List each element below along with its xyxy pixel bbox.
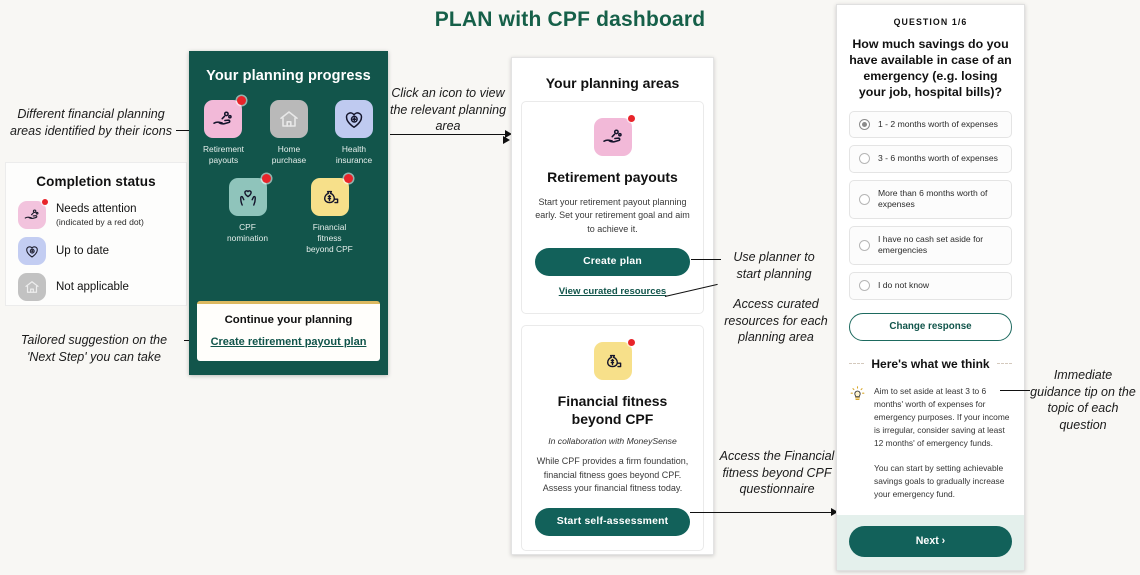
view-curated-resources-link[interactable]: View curated resources	[559, 286, 667, 297]
connector-guidance-tip	[1000, 390, 1030, 391]
questionnaire-footer: Next ›	[837, 515, 1024, 570]
arrowhead-into-areas-panel	[503, 136, 510, 144]
planning-icon-label: CPF nomination	[223, 222, 273, 244]
option-label: I have no cash set aside for emergencies	[878, 234, 1002, 257]
home-purchase-icon[interactable]	[270, 100, 308, 138]
radio-icon[interactable]	[859, 194, 870, 205]
questionnaire-body: QUESTION 1/6 How much savings do you hav…	[837, 5, 1024, 501]
area-card-description: While CPF provides a firm foundation, fi…	[535, 455, 690, 496]
question-text: How much savings do you have available i…	[849, 36, 1012, 101]
legend-title: Completion status	[6, 174, 186, 189]
insight-tip: Aim to set aside at least 3 to 6 months'…	[849, 385, 1012, 501]
annotation-use-planner: Use planner to start planning	[720, 249, 828, 282]
status-dot	[237, 96, 246, 105]
insight-paragraph-1: Aim to set aside at least 3 to 6 months'…	[874, 385, 1012, 450]
legend-item-text: Not applicable	[56, 280, 129, 294]
annotation-curated-resources: Access curated resources for each planni…	[718, 296, 834, 346]
option-label: More than 6 months worth of expenses	[878, 188, 1002, 211]
insight-paragraph-2: You can start by setting achievable savi…	[874, 462, 1012, 501]
option-no-cash-set-aside[interactable]: I have no cash set aside for emergencies	[849, 226, 1012, 265]
legend-label: Needs attention	[56, 203, 137, 215]
area-card-subtitle: In collaboration with MoneySense	[535, 436, 690, 446]
divider-left	[849, 363, 864, 364]
option-do-not-know[interactable]: I do not know	[849, 272, 1012, 300]
retirement-payouts-icon	[594, 118, 632, 156]
retirement-payouts-icon[interactable]	[204, 100, 242, 138]
area-card-financial-fitness: Financial fitness beyond CPF In collabor…	[521, 325, 704, 551]
connector-use-planner	[691, 259, 721, 260]
planning-icon-label: Health insurance	[334, 144, 374, 166]
legend-label: Not applicable	[56, 281, 129, 293]
radio-icon[interactable]	[859, 119, 870, 130]
planning-areas-title: Your planning areas	[521, 75, 704, 91]
planning-progress-panel: Your planning progress Retirement payout…	[189, 51, 388, 375]
health-insurance-icon[interactable]	[335, 100, 373, 138]
status-dot	[628, 115, 635, 122]
status-dot	[42, 199, 48, 205]
planning-icon-health-insurance[interactable]: Health insurance	[334, 100, 374, 166]
area-card-title: Retirement payouts	[535, 169, 690, 187]
financial-fitness-icon	[594, 342, 632, 380]
legend-item-up-to-date: Up to date	[6, 233, 186, 269]
planning-icon-row-2: CPF nomination Financial fitness beyond …	[203, 178, 374, 255]
planning-icon-label: Financial fitness beyond CPF	[305, 222, 355, 255]
next-step-title: Continue your planning	[205, 314, 372, 326]
annotation-next-step: Tailored suggestion on the 'Next Step' y…	[6, 332, 182, 365]
completion-status-legend: Completion status Needs attention (indic…	[6, 163, 186, 305]
status-dot	[344, 174, 353, 183]
connector-access-questionnaire	[690, 512, 834, 513]
option-label: 3 - 6 months worth of expenses	[878, 153, 998, 165]
radio-icon[interactable]	[859, 240, 870, 251]
start-self-assessment-button[interactable]: Start self-assessment	[535, 508, 690, 536]
lightbulb-icon	[849, 385, 866, 501]
option-label: I do not know	[878, 280, 929, 292]
question-number: QUESTION 1/6	[849, 17, 1012, 27]
planning-progress-title: Your planning progress	[189, 68, 388, 84]
annotation-icons-identified: Different financial planning areas ident…	[8, 106, 174, 139]
radio-icon[interactable]	[859, 153, 870, 164]
legend-item-not-applicable: Not applicable	[6, 269, 186, 305]
status-dot	[628, 339, 635, 346]
option-more-than-6-months[interactable]: More than 6 months worth of expenses	[849, 180, 1012, 219]
insight-heading: Here's what we think	[871, 357, 989, 371]
create-plan-button[interactable]: Create plan	[535, 248, 690, 276]
option-1-2-months[interactable]: 1 - 2 months worth of expenses	[849, 111, 1012, 139]
legend-label: Up to date	[56, 245, 109, 257]
radio-icon[interactable]	[859, 280, 870, 291]
annotation-click-icon: Click an icon to view the relevant plann…	[388, 85, 508, 135]
health-insurance-icon	[18, 237, 46, 265]
legend-item-text: Needs attention (indicated by a red dot)	[56, 202, 144, 227]
legend-sublabel: (indicated by a red dot)	[56, 217, 144, 228]
planning-icon-row-1: Retirement payouts Home purchase	[203, 100, 374, 166]
legend-item-needs-attention: Needs attention (indicated by a red dot)	[6, 197, 186, 233]
next-button[interactable]: Next ›	[849, 526, 1012, 557]
planning-icon-grid: Retirement payouts Home purchase	[189, 100, 388, 255]
questionnaire-panel: QUESTION 1/6 How much savings do you hav…	[836, 4, 1025, 571]
next-step-card: Continue your planning Create retirement…	[197, 301, 380, 361]
options-list: 1 - 2 months worth of expenses 3 - 6 mon…	[849, 111, 1012, 300]
area-card-title: Financial fitness beyond CPF	[535, 393, 690, 428]
annotation-guidance-tip: Immediate guidance tip on the topic of e…	[1030, 367, 1136, 433]
insight-heading-row: Here's what we think	[849, 357, 1012, 371]
planning-icon-retirement-payouts[interactable]: Retirement payouts	[203, 100, 244, 166]
planning-icon-home-purchase[interactable]: Home purchase	[269, 100, 309, 166]
option-3-6-months[interactable]: 3 - 6 months worth of expenses	[849, 145, 1012, 173]
home-purchase-icon	[18, 273, 46, 301]
dashboard-annotated-diagram: PLAN with CPF dashboard Different financ…	[0, 0, 1140, 575]
cpf-nomination-icon[interactable]	[229, 178, 267, 216]
planning-icon-cpf-nomination[interactable]: CPF nomination	[223, 178, 273, 255]
financial-fitness-icon[interactable]	[311, 178, 349, 216]
divider-right	[997, 363, 1012, 364]
status-dot	[262, 174, 271, 183]
connector-click-icon	[390, 134, 507, 135]
planning-areas-panel: Your planning areas Retirement payouts S…	[511, 57, 714, 555]
planning-icon-label: Home purchase	[269, 144, 309, 166]
option-label: 1 - 2 months worth of expenses	[878, 119, 998, 131]
planning-icon-financial-fitness[interactable]: Financial fitness beyond CPF	[305, 178, 355, 255]
create-retirement-payout-plan-link[interactable]: Create retirement payout plan	[211, 336, 367, 348]
retirement-payouts-icon	[18, 201, 46, 229]
annotation-access-questionnaire: Access the Financial fitness beyond CPF …	[718, 448, 836, 498]
legend-item-text: Up to date	[56, 244, 109, 258]
change-response-button[interactable]: Change response	[849, 313, 1012, 341]
area-card-description: Start your retirement payout planning ea…	[535, 196, 690, 237]
insight-text: Aim to set aside at least 3 to 6 months'…	[874, 385, 1012, 501]
planning-icon-label: Retirement payouts	[203, 144, 244, 166]
area-card-retirement-payouts: Retirement payouts Start your retirement…	[521, 101, 704, 314]
